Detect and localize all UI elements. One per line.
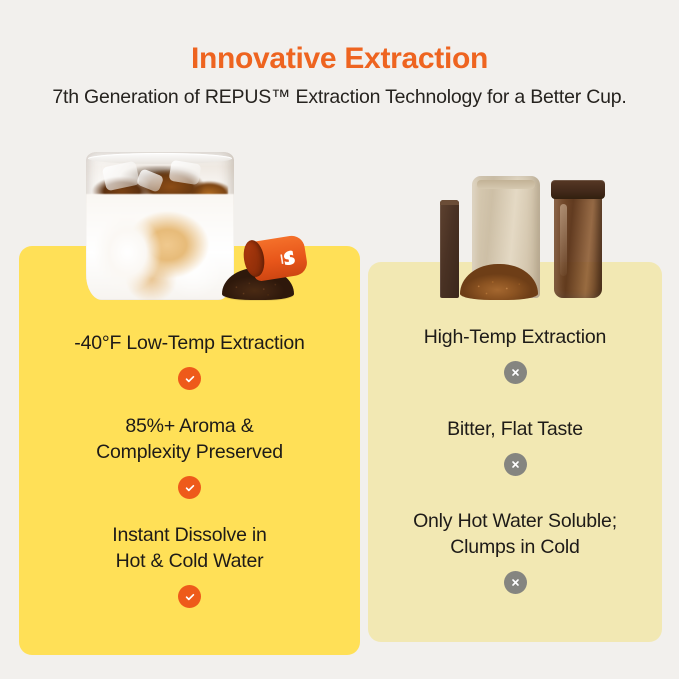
orange-coffee-scoop-icon <box>242 238 306 282</box>
header: Innovative Extraction 7th Generation of … <box>0 40 679 110</box>
page-subtitle: 7th Generation of REPUS™ Extraction Tech… <box>0 84 679 110</box>
feature-row: Only Hot Water Soluble; Clumps in Cold <box>378 508 652 594</box>
coffee-stick-pack-icon <box>440 200 459 298</box>
cross-icon <box>504 571 527 594</box>
ice-cube-icon <box>169 160 202 185</box>
feature-row: -40°F Low-Temp Extraction <box>33 330 346 390</box>
feature-label: Only Hot Water Soluble; Clumps in Cold <box>378 508 652 560</box>
feature-label: High-Temp Extraction <box>378 324 652 350</box>
comparison-infographic: Innovative Extraction 7th Generation of … <box>0 0 679 679</box>
feature-label: -40°F Low-Temp Extraction <box>33 330 346 356</box>
brand-logo-icon <box>279 249 296 267</box>
feature-label: Instant Dissolve in Hot & Cold Water <box>33 522 346 574</box>
jar-highlight <box>560 204 567 276</box>
check-icon <box>178 585 201 608</box>
feature-label: Bitter, Flat Taste <box>378 416 652 442</box>
feature-row: Instant Dissolve in Hot & Cold Water <box>33 522 346 608</box>
feature-row: High-Temp Extraction <box>378 324 652 384</box>
instant-coffee-artwork <box>428 172 618 302</box>
milk-swirl <box>86 194 234 300</box>
cross-icon <box>504 453 527 476</box>
instant-coffee-jar-icon <box>554 194 602 298</box>
feature-row: 85%+ Aroma & Complexity Preserved <box>33 413 346 499</box>
page-title: Innovative Extraction <box>0 40 679 78</box>
feature-row: Bitter, Flat Taste <box>378 416 652 476</box>
iced-coffee-glass-icon <box>86 152 234 300</box>
check-icon <box>178 367 201 390</box>
jar-lid-icon <box>551 180 605 199</box>
check-icon <box>178 476 201 499</box>
panel-high-temp-extraction: High-Temp Extraction Bitter, Flat Taste … <box>368 262 662 642</box>
feature-label: 85%+ Aroma & Complexity Preserved <box>33 413 346 465</box>
feature-list-left: -40°F Low-Temp Extraction 85%+ Aroma & C… <box>19 330 360 608</box>
cross-icon <box>504 361 527 384</box>
iced-coffee-artwork <box>86 150 318 330</box>
feature-list-right: High-Temp Extraction Bitter, Flat Taste … <box>368 324 662 594</box>
